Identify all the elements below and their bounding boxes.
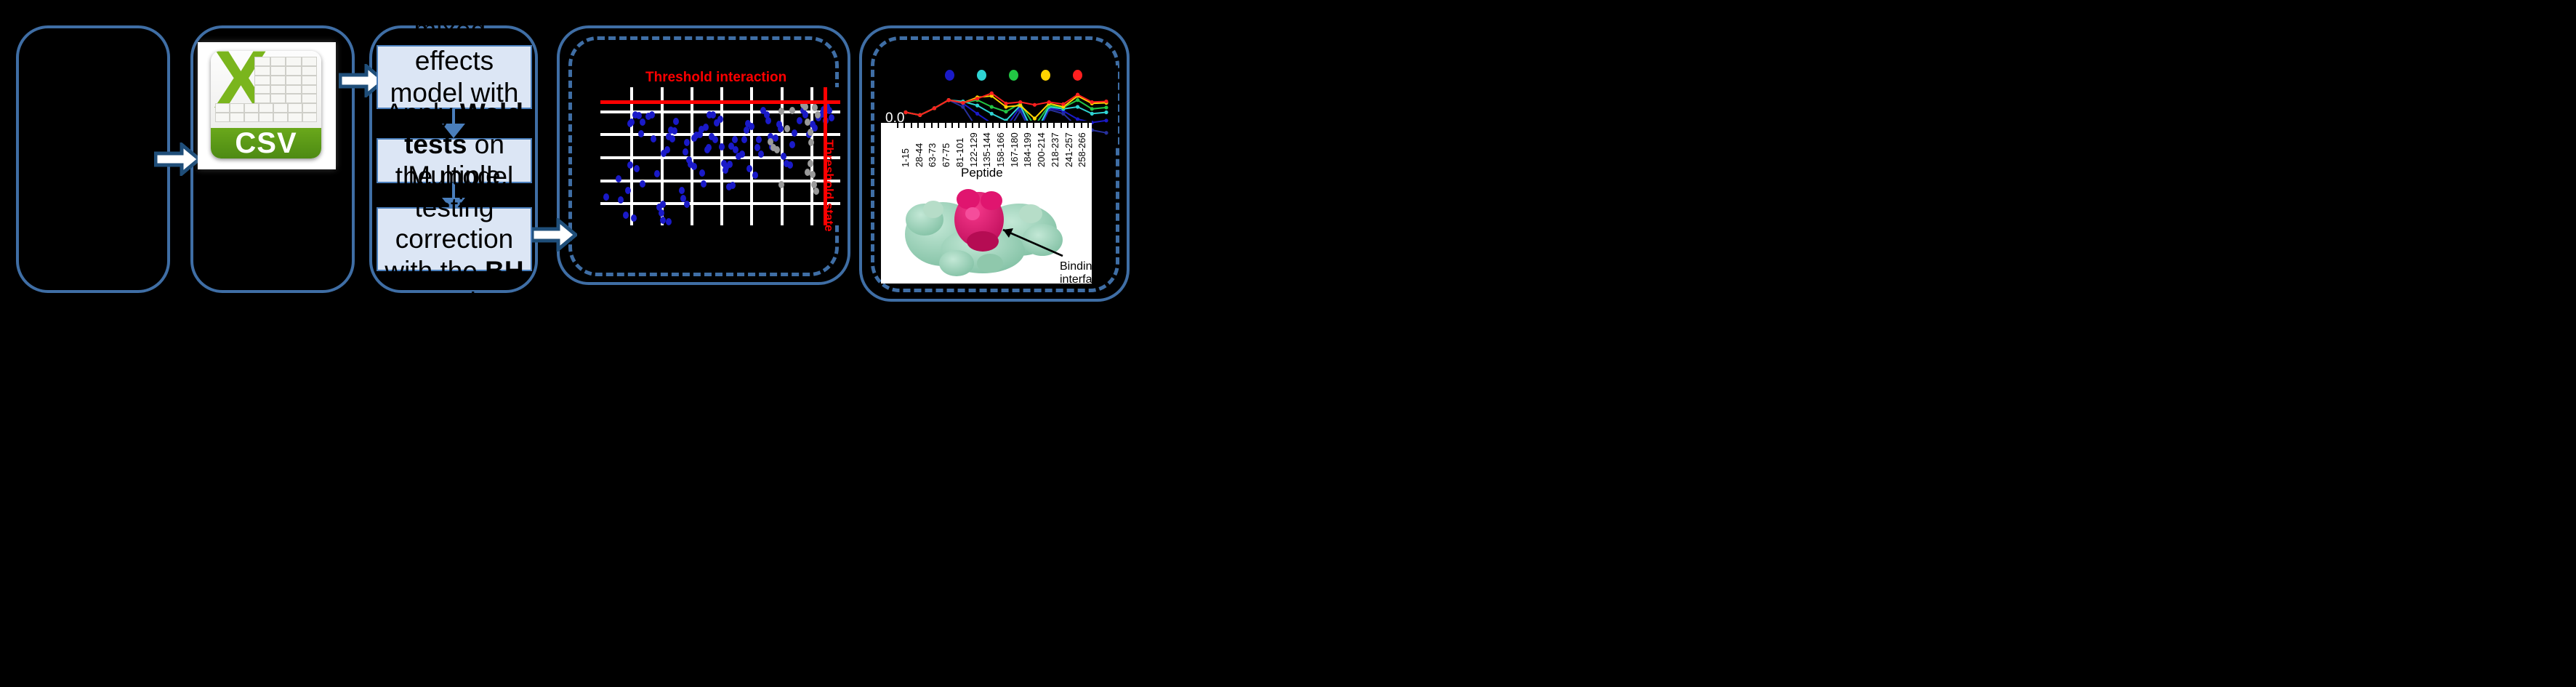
scatter-point — [727, 161, 733, 168]
wald-emphasis: Wald tests — [404, 98, 523, 160]
scatter-point — [634, 165, 640, 172]
scatter-point — [813, 188, 819, 195]
scatter-point — [660, 217, 666, 224]
profile-marker — [1076, 92, 1079, 96]
axis-tick — [1006, 123, 1007, 128]
threshold-interaction-label: Threshold interaction — [645, 70, 786, 86]
scatter-point — [649, 111, 655, 118]
profile-marker — [1033, 116, 1037, 120]
axis-tick — [924, 123, 925, 128]
scatter-point — [808, 139, 814, 146]
scatter-point — [629, 118, 635, 126]
axis-tick — [1013, 123, 1014, 128]
legend-dot — [1073, 70, 1082, 81]
profile-marker — [947, 98, 951, 102]
scatter-point — [672, 127, 677, 134]
scatter-point — [765, 117, 771, 124]
bh-emphasis: BH — [485, 256, 523, 286]
scatter-point — [810, 171, 816, 178]
scatter-point — [603, 193, 609, 201]
profile-marker — [1090, 100, 1094, 104]
scatter-point — [659, 209, 664, 217]
profile-marker — [1004, 110, 1007, 113]
input-panel — [16, 25, 170, 293]
profile-marker — [1090, 112, 1094, 116]
peptide-tick-label: 135-144 — [981, 132, 992, 167]
legend-dot — [977, 70, 986, 81]
axis-tick — [1067, 123, 1068, 128]
scatter-point — [631, 214, 637, 222]
profile-marker — [1033, 103, 1037, 107]
spreadsheet-grid-lower-icon — [215, 103, 317, 122]
profile-marker — [1018, 104, 1022, 108]
scatter-point — [756, 136, 762, 143]
scatter-point — [712, 136, 718, 143]
peptide-tick-label: 158-166 — [995, 132, 1006, 167]
scatter-point — [789, 141, 795, 148]
scatter-point — [746, 165, 752, 172]
legend-dot — [945, 70, 954, 81]
threshold-scatter-plot — [600, 87, 840, 225]
scatter-point — [787, 161, 793, 169]
profile-marker — [990, 92, 994, 95]
scatter-point — [732, 136, 738, 143]
axis-tick — [1026, 123, 1028, 128]
axis-tick — [978, 123, 980, 128]
axis-tick — [1053, 123, 1055, 128]
scatter-point — [669, 135, 675, 142]
profile-y-first-tick: 0.0 — [885, 111, 904, 126]
scatter-point — [730, 182, 736, 189]
scatter-point — [784, 125, 790, 132]
axis-tick — [999, 123, 1000, 128]
legend-dot — [1009, 70, 1018, 81]
scatter-point — [684, 201, 690, 208]
scatter-point — [640, 118, 645, 126]
csv-format-label: CSV — [211, 128, 321, 158]
scatter-point — [654, 170, 660, 177]
axis-tick — [931, 123, 933, 128]
peptide-tick-label: 63-73 — [927, 143, 938, 167]
scatter-point — [758, 150, 764, 158]
scatter-point — [651, 135, 656, 142]
peptide-axis-ticks — [881, 123, 1092, 129]
axis-tick — [986, 123, 987, 128]
scatter-point — [719, 143, 725, 150]
scatter-point — [797, 117, 802, 124]
axis-tick — [951, 123, 953, 128]
csv-file-card: X CSV — [198, 42, 336, 169]
threshold-interaction-line — [600, 100, 840, 104]
arrow-analysis-to-results — [531, 218, 577, 252]
scatter-point — [701, 180, 707, 188]
profile-marker — [961, 101, 965, 105]
peptide-tick-label: 1-15 — [900, 148, 911, 167]
axis-tick — [1081, 123, 1082, 128]
axis-tick — [1047, 123, 1048, 128]
scatter-point — [623, 212, 629, 219]
scatter-point — [778, 108, 784, 115]
scatter-point — [660, 201, 666, 208]
axis-tick — [965, 123, 967, 128]
profile-legend — [945, 70, 1105, 83]
binding-interface-line1: Binding — [1060, 260, 1104, 273]
scatter-point — [781, 153, 786, 160]
peptide-tick-label: 81-101 — [954, 138, 965, 167]
profile-marker — [1104, 105, 1108, 109]
scatter-points-layer — [600, 87, 840, 225]
profile-marker — [1061, 103, 1065, 106]
scatter-point — [638, 130, 644, 137]
scatter-point — [808, 160, 813, 167]
profile-marker — [1047, 100, 1051, 104]
profile-marker — [933, 106, 936, 110]
axis-tick — [1040, 123, 1042, 128]
profile-marker — [1104, 111, 1108, 114]
profile-marker — [1004, 102, 1007, 105]
scatter-point — [664, 146, 670, 153]
peptide-tick-label: 277-284 — [1090, 132, 1101, 167]
axis-tick — [1087, 123, 1089, 128]
profile-marker — [1004, 105, 1007, 108]
scatter-point — [778, 125, 784, 132]
scatter-point — [627, 161, 633, 169]
peptide-tick-label: 167-180 — [1009, 132, 1020, 167]
scatter-point — [792, 129, 797, 137]
threshold-state-label: Threshold state — [821, 140, 836, 232]
axis-tick — [1060, 123, 1062, 128]
peptide-tick-label: 28-44 — [914, 143, 925, 167]
scatter-point — [802, 103, 808, 111]
axis-tick — [945, 123, 946, 128]
multiple-testing-step[interactable]: Multiple testingcorrectionwith the BH pr… — [377, 207, 532, 271]
axis-tick — [992, 123, 994, 128]
peptide-tick-label: 184-199 — [1022, 132, 1033, 167]
scatter-point — [691, 163, 697, 170]
profile-marker — [1018, 100, 1022, 104]
profile-marker — [1104, 131, 1108, 134]
peptide-tick-label: 218-237 — [1050, 132, 1060, 167]
scatter-point — [778, 181, 784, 188]
peptide-axis-and-structure-card: 1-1528-4463-7367-7581-101122-129135-1441… — [881, 121, 1092, 284]
scatter-point — [812, 104, 818, 111]
scatter-point — [673, 118, 679, 125]
scatter-point — [683, 148, 688, 156]
profile-marker — [975, 97, 979, 100]
legend-dot — [1041, 70, 1050, 81]
profile-marker — [961, 105, 965, 108]
scatter-point — [815, 111, 821, 118]
profile-marker — [1076, 105, 1079, 108]
scatter-point — [789, 107, 795, 114]
profile-marker — [1104, 100, 1108, 103]
scatter-point — [640, 180, 645, 188]
profile-marker — [975, 104, 979, 108]
scatter-point — [625, 187, 631, 194]
axis-tick — [972, 123, 973, 128]
scatter-point — [749, 123, 754, 130]
profile-marker — [990, 105, 994, 108]
binding-interface-line2: interface — [1060, 273, 1104, 286]
scatter-point — [773, 134, 778, 142]
scatter-point — [754, 144, 760, 151]
axis-tick — [1033, 123, 1034, 128]
axis-tick — [1074, 123, 1075, 128]
axis-tick — [958, 123, 959, 128]
scatter-point — [679, 187, 685, 194]
scatter-point — [774, 146, 780, 153]
scatter-point — [739, 150, 745, 158]
arrow-input-to-data — [154, 142, 201, 176]
profile-marker — [1090, 107, 1094, 111]
peptide-tick-label: 258-266 — [1076, 132, 1087, 167]
scatter-point — [752, 172, 758, 179]
scatter-point — [741, 136, 747, 143]
scatter-point — [618, 196, 624, 204]
profile-marker — [918, 113, 922, 117]
csv-file-icon: X CSV — [211, 51, 321, 158]
scatter-point — [636, 112, 642, 119]
peptide-tick-label: 67-75 — [941, 143, 951, 167]
peptide-tick-label: 241-257 — [1063, 132, 1074, 167]
axis-tick — [1019, 123, 1021, 128]
profile-marker — [1104, 118, 1108, 122]
profile-marker — [1076, 98, 1079, 102]
profile-marker — [975, 112, 979, 116]
profile-marker — [990, 112, 994, 116]
scatter-point — [699, 169, 705, 177]
scatter-point — [666, 218, 672, 225]
scatter-point — [710, 111, 716, 118]
scatter-point — [703, 124, 709, 131]
peptide-tick-label: 122-129 — [968, 132, 979, 167]
axis-tick — [911, 123, 912, 128]
axis-tick — [917, 123, 919, 128]
scatter-point — [802, 111, 808, 118]
scatter-point — [706, 144, 712, 151]
scatter-point — [717, 116, 723, 123]
scatter-point — [616, 175, 621, 182]
scatter-point — [829, 114, 834, 121]
scatter-point — [684, 139, 690, 146]
scatter-point — [808, 129, 813, 136]
binding-interface-annotation: Binding interface — [1060, 260, 1104, 287]
multiple-testing-step-text: Multiple testingcorrectionwith the BH pr… — [382, 160, 526, 318]
scatter-point — [826, 107, 832, 114]
axis-tick — [938, 123, 939, 128]
peptide-tick-label: 200-214 — [1036, 132, 1047, 167]
